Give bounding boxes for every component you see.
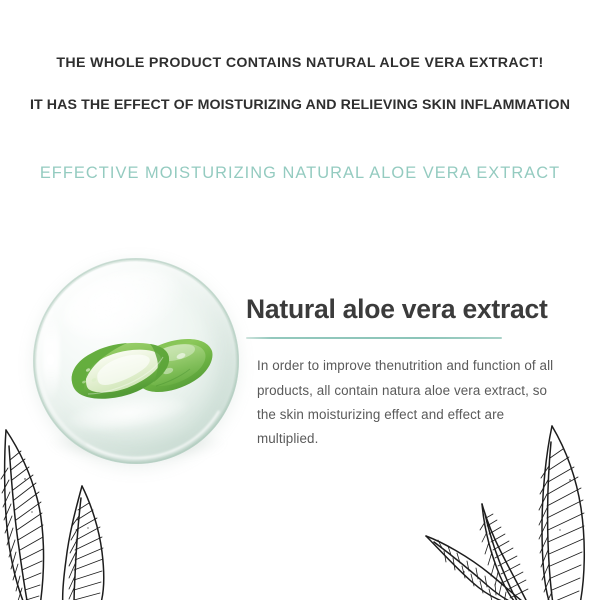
aloe-vera-leaf-slices: [64, 330, 214, 404]
headline-line-1: THE WHOLE PRODUCT CONTAINS NATURAL ALOE …: [0, 56, 600, 70]
title-divider: [246, 337, 502, 340]
aloe-gel-sphere: [33, 258, 239, 464]
feature-text-column: Natural aloe vera extract In order to im…: [246, 296, 576, 451]
feature-body-text: In order to improve thenutrition and fun…: [257, 354, 557, 451]
sphere-speck-highlight: [47, 354, 54, 365]
headline-line-2: IT HAS THE EFFECT OF MOISTURIZING AND RE…: [0, 98, 600, 112]
poster-canvas: THE WHOLE PRODUCT CONTAINS NATURAL ALOE …: [0, 0, 600, 600]
headline-block: THE WHOLE PRODUCT CONTAINS NATURAL ALOE …: [0, 56, 600, 112]
subheadline: EFFECTIVE MOISTURIZING NATURAL ALOE VERA…: [0, 165, 600, 181]
feature-title: Natural aloe vera extract: [246, 296, 576, 324]
